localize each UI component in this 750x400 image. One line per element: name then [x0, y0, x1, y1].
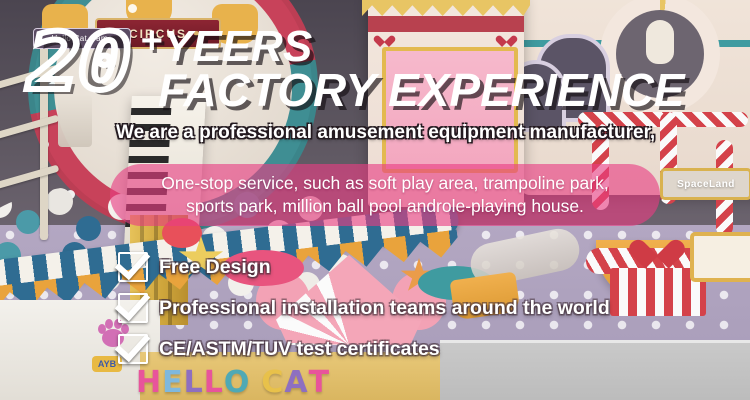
list-item: CE/ASTM/TUV test certificates [118, 334, 610, 364]
logo-letter: O [224, 368, 250, 398]
feature-label: Free Design [159, 256, 271, 279]
logo-letter: L [204, 368, 223, 398]
services-callout-band: One-stop service, such as soft play area… [110, 164, 660, 226]
feature-label: Professional installation teams around t… [159, 297, 610, 320]
headline-second-line: FACTORY EXPERIENCE [158, 63, 685, 117]
spaceland-sign: SpaceLand [660, 168, 750, 200]
services-line-2: sports park, million ball pool androle-p… [186, 195, 584, 218]
logo-letter: C [261, 368, 283, 398]
list-item: Professional installation teams around t… [118, 293, 610, 323]
heart-icon [640, 228, 674, 258]
logo-letter: T [309, 368, 329, 398]
hello-cat-logo: H E L L O C A T [136, 358, 336, 398]
feature-label: CE/ASTM/TUV test certificates [159, 338, 440, 361]
facade-scallop [362, 0, 530, 16]
ayb-label: AYB [98, 359, 116, 369]
logo-letter: E [162, 368, 183, 398]
plus-sign: + [140, 20, 162, 63]
scaffold-bar [0, 165, 59, 195]
heart-icon [500, 31, 513, 43]
promo-banner: CIRCUS [0, 0, 750, 400]
logo-letter: H [136, 368, 161, 398]
gold-picture-frame [690, 232, 750, 282]
checkmark-icon [118, 334, 148, 364]
list-item: Free Design [118, 252, 610, 282]
bulb-shape [646, 20, 674, 64]
years-number: 20 [28, 24, 129, 102]
checkmark-icon [118, 293, 148, 323]
heart-icon [378, 31, 391, 43]
checkmark-icon [118, 252, 148, 282]
wheel-light [128, 4, 137, 13]
scaffold-bar [0, 115, 59, 145]
piano-key [128, 156, 168, 163]
logo-letter: A [284, 368, 307, 398]
logo-letter: L [184, 368, 203, 398]
feature-list: Free Design Professional installation te… [118, 252, 610, 364]
spaceland-label: SpaceLand [677, 179, 735, 190]
subtitle-text: We are a professional amusement equipmen… [116, 122, 655, 144]
facade-band [368, 16, 524, 32]
services-line-1: One-stop service, such as soft play area… [161, 172, 608, 195]
